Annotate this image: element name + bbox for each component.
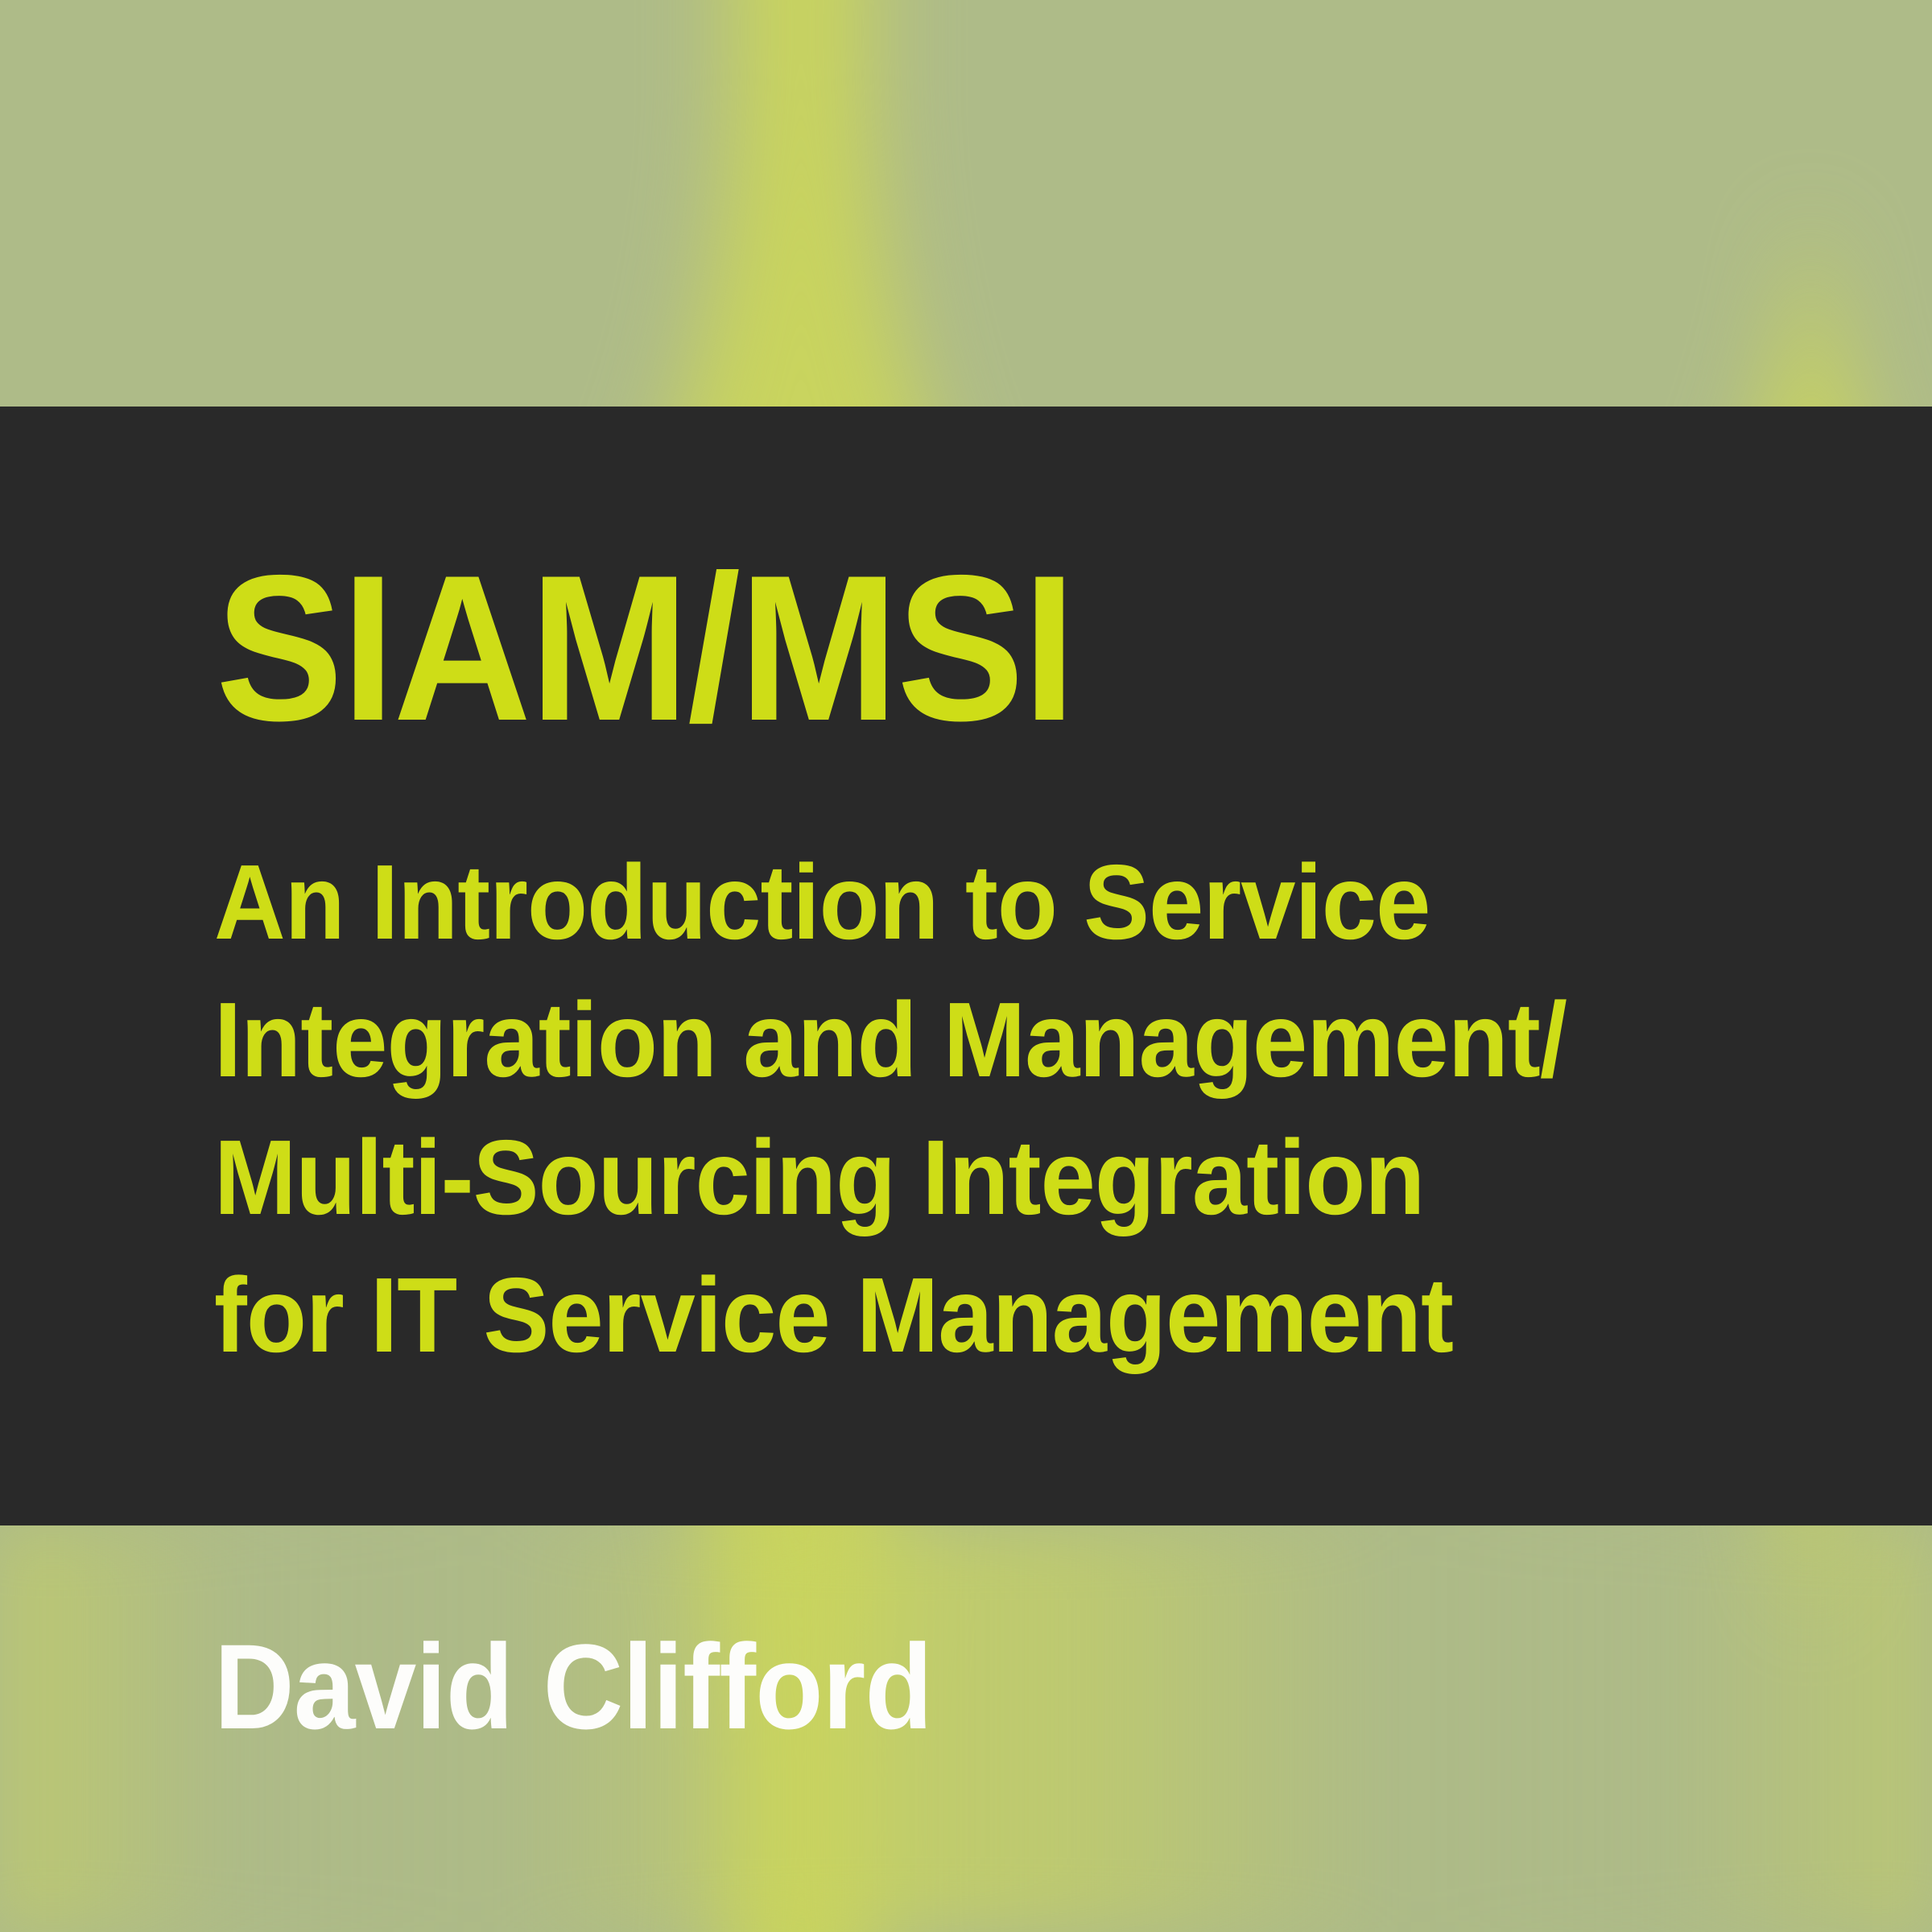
subtitle-line: for IT Service Management <box>214 1246 1711 1384</box>
subtitle-line: An Introduction to Service <box>214 833 1711 971</box>
book-main-title: SIAM/MSI <box>216 544 1075 752</box>
book-cover: SIAM/MSI An Introduction to Service Inte… <box>0 0 1932 1932</box>
subtitle-line: Multi-Sourcing Integration <box>214 1108 1711 1246</box>
book-subtitle: An Introduction to Service Integration a… <box>214 833 1711 1384</box>
subtitle-line: Integration and Management/ <box>214 971 1711 1108</box>
book-author-name: David Clifford <box>214 1626 932 1747</box>
